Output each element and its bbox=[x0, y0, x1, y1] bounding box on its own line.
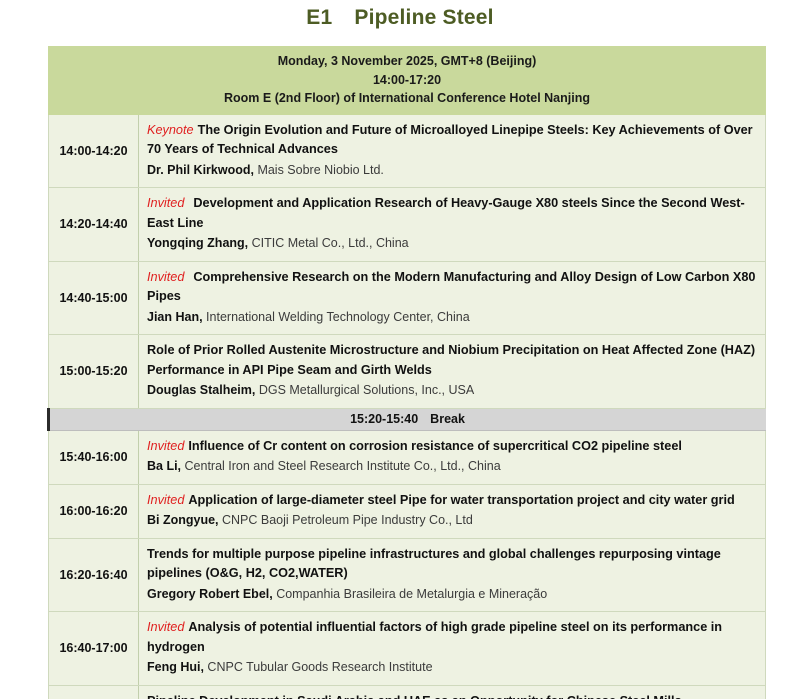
schedule-row: 15:40-16:00InvitedInfluence of Cr conten… bbox=[49, 430, 766, 484]
speaker-affiliation: Companhia Brasileira de Metalurgia e Min… bbox=[273, 587, 547, 601]
talk-title: KeynoteThe Origin Evolution and Future o… bbox=[147, 121, 757, 160]
speaker-line: Bi Zongyue, CNPC Baoji Petroleum Pipe In… bbox=[147, 511, 757, 531]
header-time: 14:00-17:20 bbox=[55, 71, 759, 90]
speaker-line: Ba Li, Central Iron and Steel Research I… bbox=[147, 457, 757, 477]
talk-tag: Invited bbox=[147, 439, 184, 453]
talk-time-cell: 16:00-16:20 bbox=[49, 484, 139, 538]
speaker-line: Douglas Stalheim, DGS Metallurgical Solu… bbox=[147, 381, 757, 401]
talk-content-cell: InvitedComprehensive Research on the Mod… bbox=[139, 261, 766, 335]
schedule-body: Monday, 3 November 2025, GMT+8 (Beijing)… bbox=[49, 47, 766, 699]
session-header-cell: Monday, 3 November 2025, GMT+8 (Beijing)… bbox=[49, 47, 766, 115]
speaker-line: Yongqing Zhang, CITIC Metal Co., Ltd., C… bbox=[147, 234, 757, 254]
session-name: Pipeline Steel bbox=[354, 6, 493, 29]
talk-title: Pipeline Development in Saudi Arabia and… bbox=[147, 692, 757, 699]
speaker-line: Dr. Phil Kirkwood, Mais Sobre Niobio Ltd… bbox=[147, 161, 757, 181]
talk-content-cell: Trends for multiple purpose pipeline inf… bbox=[139, 538, 766, 612]
talk-title: Trends for multiple purpose pipeline inf… bbox=[147, 545, 757, 584]
speaker-name: Bi Zongyue, bbox=[147, 513, 219, 527]
schedule-row: 14:40-15:00InvitedComprehensive Research… bbox=[49, 261, 766, 335]
talk-title-text: Comprehensive Research on the Modern Man… bbox=[147, 270, 755, 304]
speaker-affiliation: CNPC Tubular Goods Research Institute bbox=[204, 660, 433, 674]
header-venue: Room E (2nd Floor) of International Conf… bbox=[55, 89, 759, 108]
talk-title: InvitedComprehensive Research on the Mod… bbox=[147, 268, 757, 307]
talk-time-cell: 15:40-16:00 bbox=[49, 430, 139, 484]
talk-content-cell: InvitedApplication of large-diameter ste… bbox=[139, 484, 766, 538]
talk-title-text: Trends for multiple purpose pipeline inf… bbox=[147, 547, 721, 581]
talk-content-cell: InvitedAnalysis of potential influential… bbox=[139, 612, 766, 686]
speaker-affiliation: CITIC Metal Co., Ltd., China bbox=[248, 236, 408, 250]
schedule-row: 15:00-15:20Role of Prior Rolled Austenit… bbox=[49, 335, 766, 409]
talk-time-cell: 16:40-17:00 bbox=[49, 612, 139, 686]
talk-tag: Invited bbox=[147, 620, 184, 634]
speaker-name: Ba Li, bbox=[147, 459, 181, 473]
talk-content-cell: Pipeline Development in Saudi Arabia and… bbox=[139, 685, 766, 699]
speaker-name: Gregory Robert Ebel, bbox=[147, 587, 273, 601]
talk-title: InvitedAnalysis of potential influential… bbox=[147, 618, 757, 657]
talk-time-cell: 14:20-14:40 bbox=[49, 188, 139, 262]
speaker-name: Feng Hui, bbox=[147, 660, 204, 674]
schedule-row: 14:00-14:20KeynoteThe Origin Evolution a… bbox=[49, 114, 766, 188]
page-title: E1Pipeline Steel bbox=[0, 6, 800, 30]
talk-tag: Invited bbox=[147, 196, 184, 210]
talk-time-cell: 16:20-16:40 bbox=[49, 538, 139, 612]
talk-title-text: Development and Application Research of … bbox=[147, 196, 745, 230]
speaker-line: Feng Hui, CNPC Tubular Goods Research In… bbox=[147, 658, 757, 678]
speaker-name: Douglas Stalheim, bbox=[147, 383, 255, 397]
speaker-name: Yongqing Zhang, bbox=[147, 236, 248, 250]
speaker-affiliation: Central Iron and Steel Research Institut… bbox=[181, 459, 501, 473]
speaker-affiliation: Mais Sobre Niobio Ltd. bbox=[254, 163, 384, 177]
break-row: 15:20-15:40Break bbox=[49, 408, 766, 430]
break-label: Break bbox=[430, 412, 465, 426]
speaker-name: Jian Han, bbox=[147, 310, 203, 324]
speaker-affiliation: International Welding Technology Center,… bbox=[203, 310, 470, 324]
schedule-row: 16:00-16:20InvitedApplication of large-d… bbox=[49, 484, 766, 538]
break-cell: 15:20-15:40Break bbox=[49, 408, 766, 430]
talk-title-text: Analysis of potential influential factor… bbox=[147, 620, 722, 654]
schedule-row: 14:20-14:40InvitedDevelopment and Applic… bbox=[49, 188, 766, 262]
talk-time-cell: 14:00-14:20 bbox=[49, 114, 139, 188]
speaker-affiliation: DGS Metallurgical Solutions, Inc., USA bbox=[255, 383, 474, 397]
talk-content-cell: KeynoteThe Origin Evolution and Future o… bbox=[139, 114, 766, 188]
speaker-line: Gregory Robert Ebel, Companhia Brasileir… bbox=[147, 585, 757, 605]
talk-title-text: The Origin Evolution and Future of Micro… bbox=[147, 123, 753, 157]
break-time: 15:20-15:40 bbox=[350, 412, 418, 426]
talk-title: InvitedDevelopment and Application Resea… bbox=[147, 194, 757, 233]
speaker-line: Jian Han, International Welding Technolo… bbox=[147, 308, 757, 328]
schedule-page: E1Pipeline Steel Monday, 3 November 2025… bbox=[0, 0, 800, 699]
schedule-header-row: Monday, 3 November 2025, GMT+8 (Beijing)… bbox=[49, 47, 766, 115]
talk-title: Role of Prior Rolled Austenite Microstru… bbox=[147, 341, 757, 380]
header-date: Monday, 3 November 2025, GMT+8 (Beijing) bbox=[55, 52, 759, 71]
speaker-affiliation: CNPC Baoji Petroleum Pipe Industry Co., … bbox=[219, 513, 473, 527]
talk-title-text: Application of large-diameter steel Pipe… bbox=[188, 493, 734, 507]
speaker-name: Dr. Phil Kirkwood, bbox=[147, 163, 254, 177]
talk-title: InvitedApplication of large-diameter ste… bbox=[147, 491, 757, 511]
talk-title: InvitedInfluence of Cr content on corros… bbox=[147, 437, 757, 457]
schedule-row: 16:20-16:40Trends for multiple purpose p… bbox=[49, 538, 766, 612]
talk-time-cell: 14:40-15:00 bbox=[49, 261, 139, 335]
talk-tag: Invited bbox=[147, 270, 184, 284]
talk-title-text: Influence of Cr content on corrosion res… bbox=[188, 439, 682, 453]
talk-time-cell: 15:00-15:20 bbox=[49, 335, 139, 409]
talk-content-cell: Role of Prior Rolled Austenite Microstru… bbox=[139, 335, 766, 409]
schedule-row: 17:10-17:20Pipeline Development in Saudi… bbox=[49, 685, 766, 699]
talk-content-cell: InvitedDevelopment and Application Resea… bbox=[139, 188, 766, 262]
session-code: E1 bbox=[306, 6, 332, 29]
talk-time-cell: 17:10-17:20 bbox=[49, 685, 139, 699]
talk-tag: Invited bbox=[147, 493, 184, 507]
session-schedule-table: Monday, 3 November 2025, GMT+8 (Beijing)… bbox=[47, 46, 766, 699]
talk-title-text: Role of Prior Rolled Austenite Microstru… bbox=[147, 343, 755, 377]
talk-tag: Keynote bbox=[147, 123, 194, 137]
talk-content-cell: InvitedInfluence of Cr content on corros… bbox=[139, 430, 766, 484]
schedule-row: 16:40-17:00InvitedAnalysis of potential … bbox=[49, 612, 766, 686]
talk-title-text: Pipeline Development in Saudi Arabia and… bbox=[147, 694, 682, 699]
